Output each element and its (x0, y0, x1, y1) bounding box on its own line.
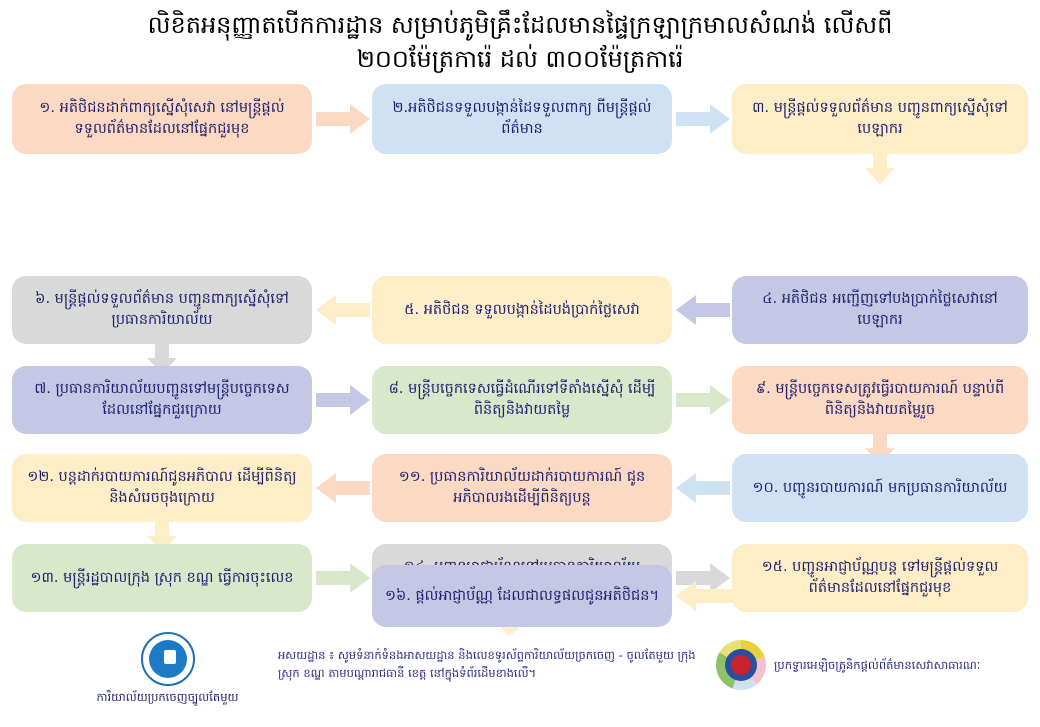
arrow-7-to-8 (316, 385, 370, 415)
arrow-4-to-5 (676, 295, 730, 325)
page-title-line-2: ២០០ម៉ែត្រការ៉េ ដល់ ៣០០ម៉ែត្រការ៉េ (40, 42, 1000, 76)
flow-step-16-label: ១៦. ផ្តល់អាជ្ញាប័ណ្ណ ដែលជាលទ្ធផលជូនអតិថិ… (384, 586, 660, 607)
flow-step-9-label: ៩. មន្ត្រីបច្ចេកទេសត្រូវធ្វើរបាយការណ៍ បន… (744, 379, 1016, 421)
arrow-13-to-14 (316, 563, 370, 593)
footer: ការិយាល័យប្រកចេញច្បូលតែមួយ អសយដ្ឋាន ៖ សូ… (0, 632, 1040, 727)
arrow-5-to-6 (316, 295, 370, 325)
footer-address-note: អសយដ្ឋាន ៖ សូមទំនាក់ទំនងអាសយដ្ឋាន និងលេខ… (278, 646, 708, 682)
flow-step-15[interactable]: ១៥. បញ្ជូនអាជ្ញាប័ណ្ណបន្ត ទៅមន្ត្រីផ្តល់… (732, 544, 1028, 612)
page-title-line-1: លិខិតអនុញ្ញាតបើកការដ្ឋាន សម្រាប់ភូមិគ្រឹ… (40, 8, 1000, 42)
flow-step-7-label: ៧. ប្រធានការិយាល័យបញ្ជូនទៅមន្ត្រីបច្ចេកទ… (24, 379, 300, 421)
flow-step-7[interactable]: ៧. ប្រធានការិយាល័យបញ្ជូនទៅមន្ត្រីបច្ចេកទ… (12, 366, 312, 434)
public-service-portal-logo-icon (716, 640, 766, 690)
footer-left-logo-block: ការិយាល័យប្រកចេញច្បូលតែមួយ (60, 632, 275, 705)
flow-step-9[interactable]: ៩. មន្ត្រីបច្ចេកទេសត្រូវធ្វើរបាយការណ៍ បន… (732, 366, 1028, 434)
arrow-1-to-2 (316, 104, 370, 134)
flow-step-2-label: ២.អតិថិជនទទួលបង្កាន់ដៃទទួលពាក្យ ពីមន្ត្រ… (384, 98, 660, 140)
flow-step-6[interactable]: ៦. មន្ត្រីផ្តល់ទទួលព័ត៌មាន បញ្ជូនពាក្យស្… (12, 276, 312, 344)
flow-step-6-label: ៦. មន្ត្រីផ្តល់ទទួលព័ត៌មាន បញ្ជូនពាក្យស្… (24, 289, 300, 331)
footer-right-logo-block: ប្រកទ្វារអេឡិចត្រូនិកផ្តល់ព័ត៌មានសេវាសាធ… (716, 640, 980, 690)
arrow-10-to-11 (676, 473, 730, 503)
flow-step-10[interactable]: ១០. បញ្ជូនរបាយការណ៍ មកប្រធានការិយាល័យ (732, 454, 1028, 522)
flow-step-8[interactable]: ៨. មន្ត្រីបច្ចេកទេសធ្វើដំណើរទៅទីតាំងស្នើ… (372, 366, 672, 434)
flow-step-13[interactable]: ១៣. មន្ត្រីរដ្ឋបាលក្រុង ស្រុក ខណ្ឌ ធ្វើក… (12, 544, 312, 612)
flow-step-2[interactable]: ២.អតិថិជនទទួលបង្កាន់ដៃទទួលពាក្យ ពីមន្ត្រ… (372, 84, 672, 154)
flow-step-3[interactable]: ៣. មន្ត្រីផ្តល់ទទួលព័ត៌មាន បញ្ជូនពាក្យស្… (732, 84, 1028, 154)
flow-step-1-label: ១. អតិថិជនដាក់ពាក្យស្នើសុំសេវា នៅមន្ត្រី… (24, 98, 300, 140)
footer-left-logo-label: ការិយាល័យប្រកចេញច្បូលតែមួយ (60, 690, 275, 705)
flow-step-3-label: ៣. មន្ត្រីផ្តល់ទទួលព័ត៌មាន បញ្ជូនពាក្យស្… (744, 98, 1016, 140)
arrow-3-to-4 (865, 154, 895, 184)
flow-step-12[interactable]: ១២. បន្តដាក់របាយការណ៍ជូនអភិបាល ដើម្បីពិន… (12, 454, 312, 522)
arrow-2-to-3 (676, 104, 730, 134)
arrow-16-end (676, 581, 760, 611)
flowchart: ១. អតិថិជនដាក់ពាក្យស្នើសុំសេវា នៅមន្ត្រី… (0, 76, 1040, 621)
flow-step-13-label: ១៣. មន្ត្រីរដ្ឋបាលក្រុង ស្រុក ខណ្ឌ ធ្វើក… (24, 568, 300, 589)
flow-step-8-label: ៨. មន្ត្រីបច្ចេកទេសធ្វើដំណើរទៅទីតាំងស្នើ… (384, 379, 660, 421)
flow-step-16[interactable]: ១៦. ផ្តល់អាជ្ញាប័ណ្ណ ដែលជាលទ្ធផលជូនអតិថិ… (372, 565, 672, 627)
flow-step-5-label: ៥. អតិថិជន ទទួលបង្កាន់ដៃបង់ប្រាក់ថ្លៃសេវ… (384, 300, 660, 321)
page-title: លិខិតអនុញ្ញាតបើកការដ្ឋាន សម្រាប់ភូមិគ្រឹ… (0, 0, 1040, 76)
flow-step-10-label: ១០. បញ្ជូនរបាយការណ៍ មកប្រធានការិយាល័យ (744, 478, 1016, 499)
flow-step-11-label: ១១. ប្រធានការិយាល័យដាក់របាយការណ៍ ជូនអភិប… (384, 467, 660, 509)
footer-right-logo-label: ប្រកទ្វារអេឡិចត្រូនិកផ្តល់ព័ត៌មានសេវាសាធ… (774, 657, 980, 673)
flow-step-4-label: ៤. អតិថិជន អញ្ជើញទៅបងប្រាក់ថ្លៃសេវានៅបេឡ… (744, 289, 1016, 331)
ministry-of-health-logo-icon (141, 632, 195, 686)
flow-step-4[interactable]: ៤. អតិថិជន អញ្ជើញទៅបងប្រាក់ថ្លៃសេវានៅបេឡ… (732, 276, 1028, 344)
flow-step-1[interactable]: ១. អតិថិជនដាក់ពាក្យស្នើសុំសេវា នៅមន្ត្រី… (12, 84, 312, 154)
flow-step-11[interactable]: ១១. ប្រធានការិយាល័យដាក់របាយការណ៍ ជូនអភិប… (372, 454, 672, 522)
arrow-8-to-9 (676, 385, 730, 415)
flow-step-15-label: ១៥. បញ្ជូនអាជ្ញាប័ណ្ណបន្ត ទៅមន្ត្រីផ្តល់… (744, 557, 1016, 599)
flow-step-12-label: ១២. បន្តដាក់របាយការណ៍ជូនអភិបាល ដើម្បីពិន… (24, 467, 300, 509)
arrow-11-to-12 (316, 473, 370, 503)
flow-step-5[interactable]: ៥. អតិថិជន ទទួលបង្កាន់ដៃបង់ប្រាក់ថ្លៃសេវ… (372, 276, 672, 344)
